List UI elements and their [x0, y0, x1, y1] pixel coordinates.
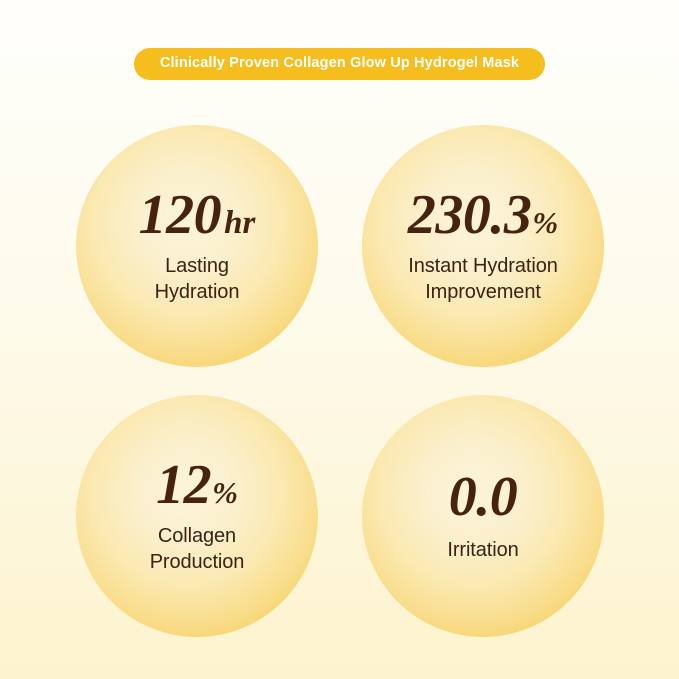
stat-label: Collagen Production [150, 524, 245, 574]
stat-value: 120 [139, 187, 222, 243]
stat-label: Irritation [447, 538, 518, 563]
stat-label-line-2: Production [150, 550, 245, 575]
infographic-page: Clinically Proven Collagen Glow Up Hydro… [0, 0, 679, 679]
stat-label-line-1: Irritation [447, 538, 518, 563]
stat-cell-instant-hydration-improvement: 230.3 % Instant Hydration Improvement [362, 125, 604, 367]
stat-value: 230.3 [408, 187, 532, 243]
stat-circle: 120 hr Lasting Hydration [76, 125, 318, 367]
stat-circle: 0.0 Irritation [362, 395, 604, 637]
stat-label: Lasting Hydration [155, 254, 240, 304]
stat-label-line-2: Hydration [155, 280, 240, 305]
stat-label-line-1: Instant Hydration [408, 254, 558, 279]
badge-container: Clinically Proven Collagen Glow Up Hydro… [0, 48, 679, 80]
stat-cell-irritation: 0.0 Irritation [362, 395, 604, 637]
stat-unit: % [532, 207, 558, 238]
stat-unit: hr [224, 207, 255, 240]
stat-number: 12 % [156, 457, 238, 513]
stat-cell-collagen-production: 12 % Collagen Production [76, 395, 318, 637]
stat-value: 12 [156, 457, 211, 513]
stat-value: 0.0 [449, 469, 518, 525]
product-claim-badge: Clinically Proven Collagen Glow Up Hydro… [134, 48, 545, 80]
stat-label-line-1: Lasting [155, 254, 240, 279]
stat-unit: % [212, 477, 238, 508]
stats-grid: 120 hr Lasting Hydration 230.3 % Instant… [76, 125, 604, 635]
stat-number: 120 hr [139, 187, 256, 243]
stat-number: 230.3 % [408, 187, 558, 243]
stat-number: 0.0 [449, 469, 518, 525]
stat-cell-lasting-hydration: 120 hr Lasting Hydration [76, 125, 318, 367]
stat-label: Instant Hydration Improvement [408, 254, 558, 304]
stat-circle: 12 % Collagen Production [76, 395, 318, 637]
stat-label-line-2: Improvement [408, 280, 558, 305]
stat-circle: 230.3 % Instant Hydration Improvement [362, 125, 604, 367]
stat-label-line-1: Collagen [150, 524, 245, 549]
